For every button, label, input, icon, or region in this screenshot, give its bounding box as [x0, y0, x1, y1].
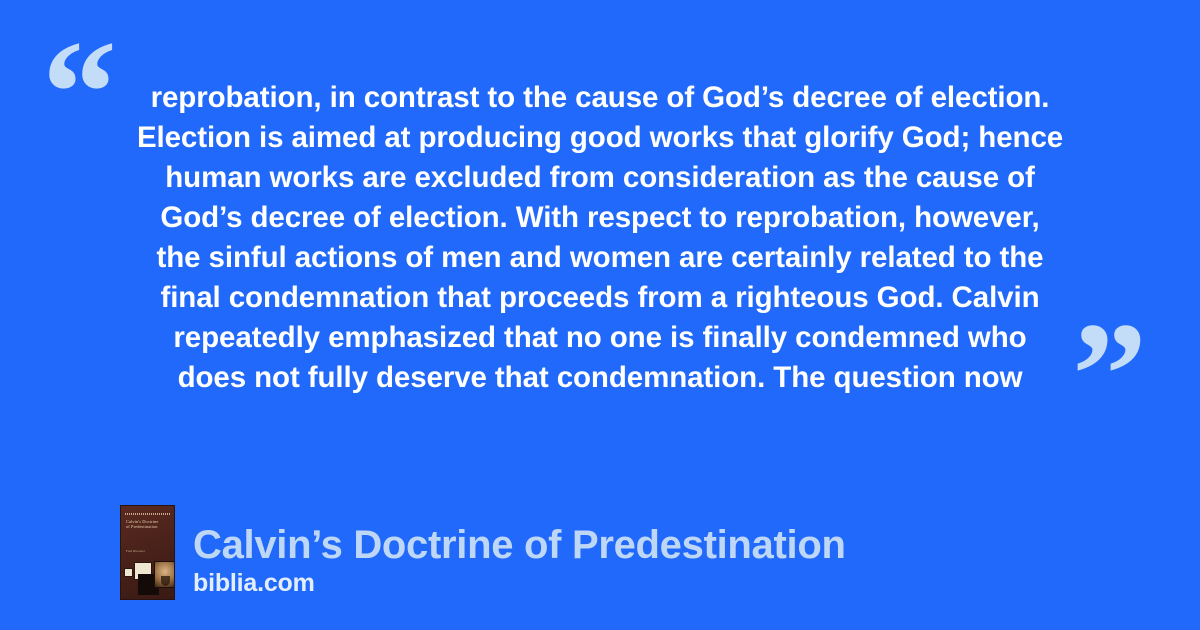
cover-author-text: Fred Klooster [126, 549, 145, 553]
book-title: Calvin’s Doctrine of Predestination [193, 522, 846, 568]
cover-square-small-icon [124, 568, 133, 577]
site-name: biblia.com [193, 568, 846, 598]
cover-title-line-1: Calvin's Doctrine [126, 519, 158, 524]
cover-ornament-rule [125, 513, 170, 515]
attribution: Calvin's Doctrine of Predestination Fred… [120, 505, 846, 600]
closing-quote-icon: ” [1072, 300, 1147, 450]
attribution-text: Calvin’s Doctrine of Predestination bibl… [193, 522, 846, 600]
quote-card: “ reprobation, in contrast to the cause … [0, 0, 1200, 630]
quote-text: reprobation, in contrast to the cause of… [100, 78, 1100, 398]
cover-title-line-2: of Predestination [126, 524, 158, 529]
cover-title-text: Calvin's Doctrine of Predestination [126, 519, 170, 530]
quote-block: reprobation, in contrast to the cause of… [100, 78, 1100, 398]
book-cover-thumbnail: Calvin's Doctrine of Predestination Fred… [120, 505, 175, 600]
cover-portrait-icon [154, 561, 175, 588]
